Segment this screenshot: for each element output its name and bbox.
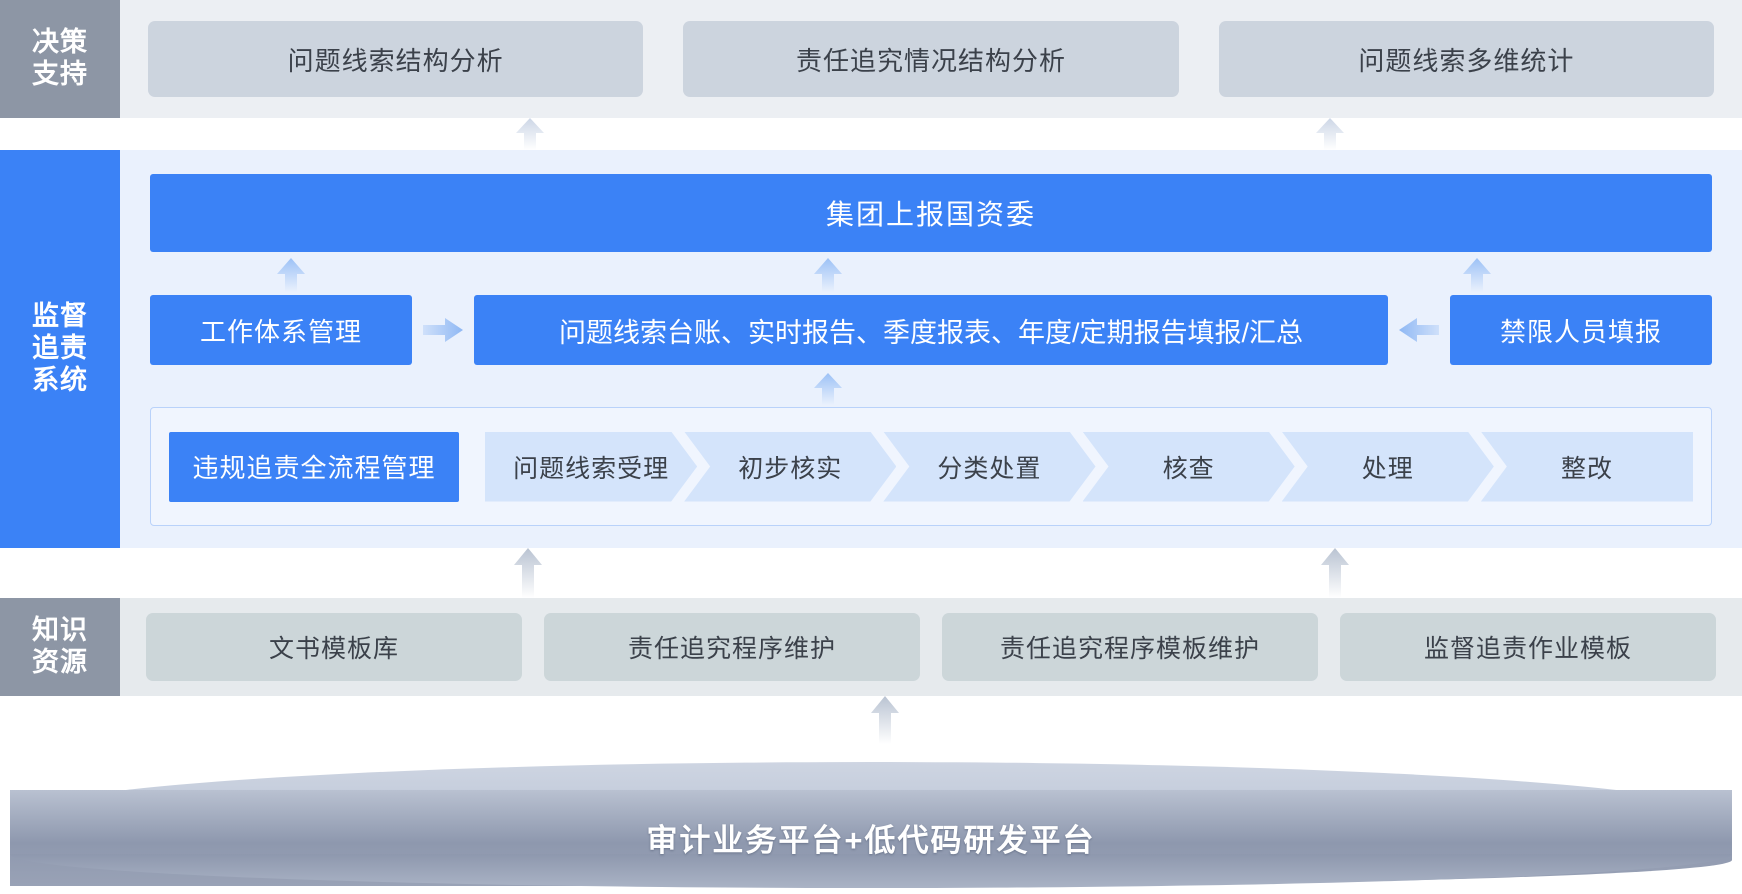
arrow-up-icon-platform (870, 696, 900, 744)
platform-label: 审计业务平台+低代码研发平台 (10, 815, 1732, 860)
knowledge-label-line2: 资源 (32, 647, 88, 679)
knowledge-card-3[interactable]: 责任追究程序模板维护 (942, 613, 1318, 681)
knowledge-card-4[interactable]: 监督追责作业模板 (1340, 613, 1716, 681)
decision-label-line1: 决策 (32, 27, 88, 59)
knowledge-connectors (0, 548, 1742, 598)
arrow-up-icon-to-topbar-center (813, 258, 843, 297)
arrow-up-icon-decision-1 (515, 118, 545, 150)
flow-step-3[interactable]: 分类处置 (883, 432, 1095, 502)
supervision-middle-row: 工作体系管理 问题线索台账、实时报告、季度报表、年度/定期报告填报/汇总 禁限人… (150, 295, 1712, 365)
arrow-up-icon-knowledge-2 (1320, 548, 1350, 598)
decision-support-label: 决策 支持 (0, 0, 120, 118)
decision-connectors (0, 118, 1742, 150)
arrow-up-icon-to-topbar-left (276, 258, 306, 297)
work-system-management-box[interactable]: 工作体系管理 (150, 295, 412, 365)
flow-step-6[interactable]: 整改 (1481, 432, 1693, 502)
knowledge-card-1[interactable]: 文书模板库 (146, 613, 522, 681)
full-process-management-box[interactable]: 违规追责全流程管理 (169, 432, 459, 502)
supervision-system-band: 监督 追责 系统 集团上报国资委 工作体系管理 问题线索台账、实时报告、季度报表… (0, 150, 1742, 548)
supervision-label-line2: 追责 (32, 333, 88, 365)
arrow-right-icon (412, 317, 474, 343)
group-report-bar[interactable]: 集团上报国资委 (150, 174, 1712, 252)
arrow-left-icon (1388, 317, 1450, 343)
knowledge-cards: 文书模板库 责任追究程序维护 责任追究程序模板维护 监督追责作业模板 (120, 598, 1742, 696)
knowledge-resources-label: 知识 资源 (0, 598, 120, 696)
arrow-up-icon-knowledge-1 (513, 548, 543, 598)
flow-step-5[interactable]: 处理 (1282, 432, 1494, 502)
supervision-content: 集团上报国资委 工作体系管理 问题线索台账、实时报告、季度报表、年度/定期报告填… (120, 150, 1742, 548)
supervision-label-line1: 监督 (32, 301, 88, 333)
flow-step-4[interactable]: 核查 (1083, 432, 1295, 502)
arrow-up-icon-decision-2 (1315, 118, 1345, 150)
arrow-up-icon-to-topbar-right (1462, 258, 1492, 297)
decision-support-band: 决策 支持 问题线索结构分析 责任追究情况结构分析 问题线索多维统计 (0, 0, 1742, 118)
knowledge-card-2[interactable]: 责任追究程序维护 (544, 613, 920, 681)
arrow-up-icon-flow-to-ledger (813, 373, 843, 410)
ledger-report-box[interactable]: 问题线索台账、实时报告、季度报表、年度/定期报告填报/汇总 (474, 295, 1388, 365)
restricted-personnel-box[interactable]: 禁限人员填报 (1450, 295, 1712, 365)
platform-cylinder: 审计业务平台+低代码研发平台 (10, 762, 1732, 886)
decision-card-1[interactable]: 问题线索结构分析 (148, 21, 643, 97)
flow-step-2[interactable]: 初步核实 (684, 432, 896, 502)
decision-card-3[interactable]: 问题线索多维统计 (1219, 21, 1714, 97)
knowledge-resources-band: 知识 资源 文书模板库 责任追究程序维护 责任追究程序模板维护 监督追责作业模板 (0, 598, 1742, 696)
accountability-flow-panel: 违规追责全流程管理 问题线索受理 初步核实 分类处置 核查 处理 整改 (150, 407, 1712, 526)
decision-label-line2: 支持 (32, 59, 88, 91)
flow-steps: 问题线索受理 初步核实 分类处置 核查 处理 整改 (485, 432, 1693, 502)
flow-step-1[interactable]: 问题线索受理 (485, 432, 697, 502)
platform-band: 审计业务平台+低代码研发平台 (0, 744, 1742, 894)
platform-connector (0, 696, 1742, 744)
knowledge-label-line1: 知识 (32, 615, 88, 647)
decision-card-2[interactable]: 责任追究情况结构分析 (683, 21, 1178, 97)
supervision-label-line3: 系统 (32, 365, 88, 397)
decision-support-cards: 问题线索结构分析 责任追究情况结构分析 问题线索多维统计 (120, 0, 1742, 118)
supervision-system-label: 监督 追责 系统 (0, 150, 120, 548)
